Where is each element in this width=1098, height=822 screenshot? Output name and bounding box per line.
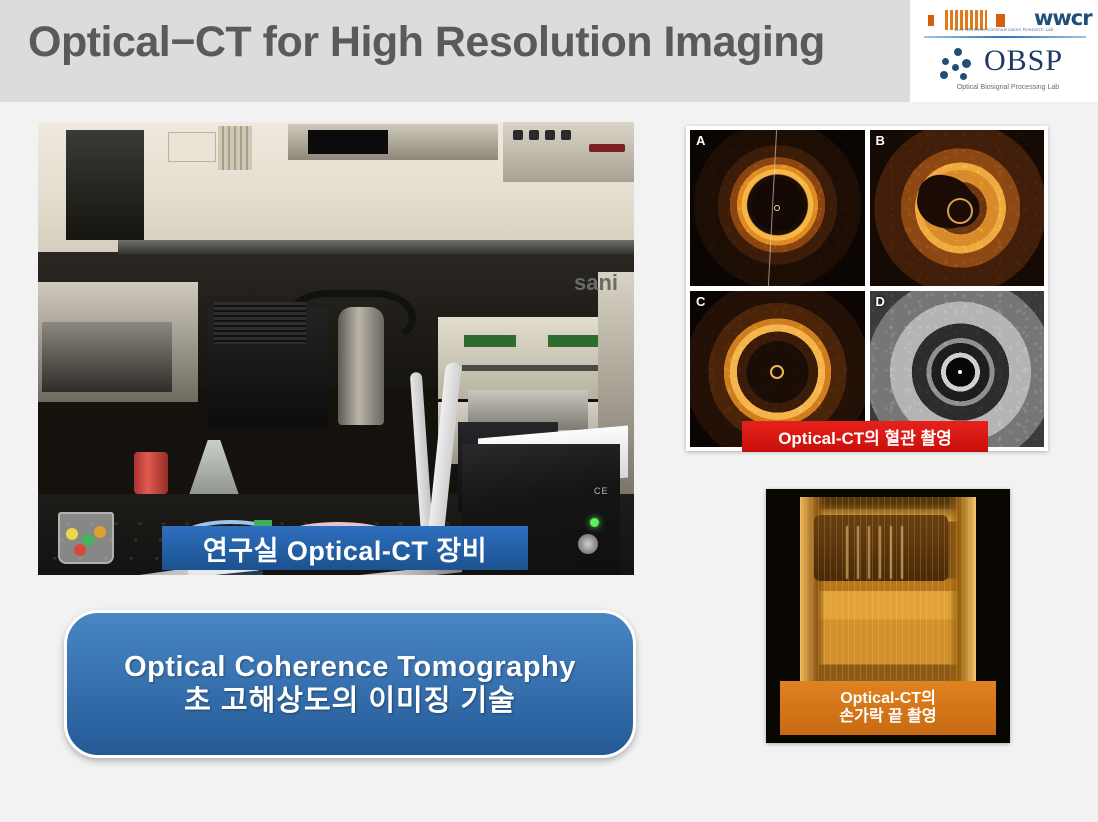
oct-grid-caption: Optical-CT의 혈관 촬영 [742,421,988,452]
oct-panel-a: A [690,130,865,286]
page-title: Optical−CT for High Resolution Imaging [28,18,825,67]
molecule-icon [938,48,978,82]
oct-panel-d-label: D [876,294,885,309]
oct-grid-caption-text: Optical-CT의 혈관 촬영 [778,424,952,449]
lab-photo: sani CE [38,122,634,575]
lab-logo: wwcr Wire-Wireless Communication Researc… [910,0,1098,102]
fingertip-caption-line2: 손가락 끝 촬영 [839,708,936,726]
oct-panel-b-label: B [876,133,885,148]
summary-line-2: 초 고해상도의 이미징 기술 [184,684,516,718]
fingertip-scan-image: Optical-CT의 손가락 끝 촬영 [766,489,1010,743]
obsp-lab-name: Optical Biosignal Processing Lab [928,84,1088,91]
ce-mark-icon: CE [594,486,609,496]
oct-panel-c-label: C [696,294,705,309]
wwcr-subtitle: Wire-Wireless Communication Research Lab [926,27,1082,32]
slide-header: Optical−CT for High Resolution Imaging w… [0,0,1098,102]
summary-line-1: Optical Coherence Tomography [124,650,576,684]
background-signage: sani [574,270,618,296]
obsp-wordmark: OBSP [984,44,1063,78]
oct-panel-b: B [870,130,1045,286]
power-led-icon [590,518,599,527]
summary-callout-box: Optical Coherence Tomography 초 고해상도의 이미징… [64,610,636,758]
slide: Optical−CT for High Resolution Imaging w… [0,0,1098,822]
oct-panel-a-label: A [696,133,705,148]
fingertip-scan-caption: Optical-CT의 손가락 끝 촬영 [780,681,996,735]
fingertip-caption-line1: Optical-CT의 [840,690,936,708]
lab-photo-caption-text: 연구실 Optical-CT 장비 [203,529,487,568]
logo-divider [924,36,1086,38]
lab-photo-caption: 연구실 Optical-CT 장비 [162,526,528,570]
oct-panel-grid: A B C D [686,126,1048,451]
